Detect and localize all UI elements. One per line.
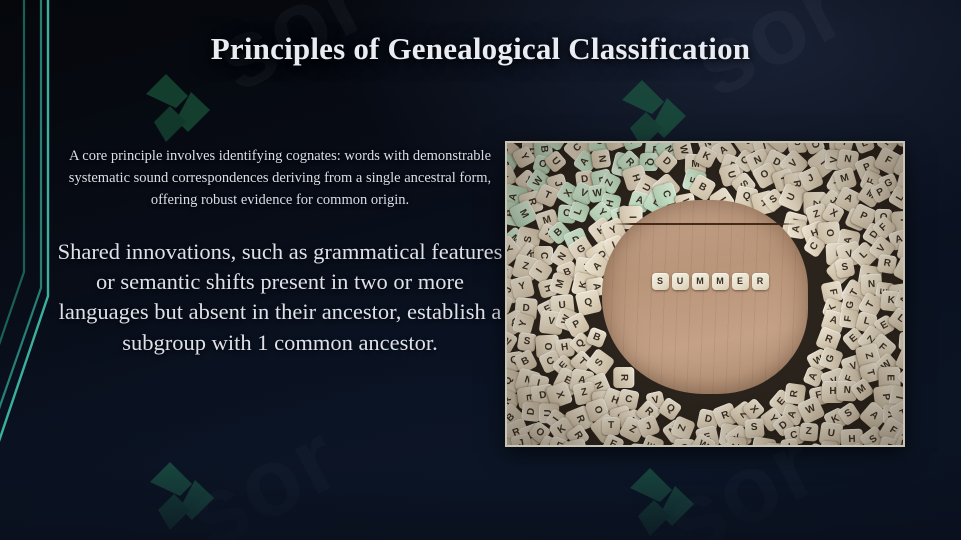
page-title: Principles of Genealogical Classificatio… — [0, 31, 961, 67]
letter-tile: K — [620, 143, 643, 151]
slide-canvas: sor sor sor sor Principles of Genealogic… — [0, 0, 961, 540]
letter-tile: S — [744, 418, 764, 438]
center-word-tile: S — [652, 273, 669, 290]
watermark-text: sor — [169, 402, 358, 540]
center-word-tile: U — [672, 273, 689, 290]
bottom-gradient-fade — [0, 466, 961, 540]
letter-tile: N — [591, 148, 612, 169]
watermark-logo-icon — [140, 452, 226, 540]
illustration-frame: GHBFCONKFNWNABIUSOUILNGJYOUANWRQDMKDCNDV… — [505, 141, 905, 447]
paragraph-cognates: A core principle involves identifying co… — [56, 145, 504, 211]
wood-surface — [602, 200, 808, 393]
watermark-logo-icon — [620, 458, 706, 540]
wood-plank-seam — [614, 223, 796, 225]
center-word-tile: E — [732, 273, 749, 290]
center-word-tile: M — [712, 273, 729, 290]
letter-tile: G — [897, 143, 903, 148]
letter-tile: T — [602, 417, 620, 435]
letter-tile: Z — [726, 436, 747, 445]
body-text-column: A core principle involves identifying co… — [56, 145, 504, 358]
center-word-tile: R — [752, 273, 769, 290]
center-word-tile: M — [692, 273, 709, 290]
letter-dice-photo: GHBFCONKFNWNABIUSOUILNGJYOUANWRQDMKDCNDV… — [507, 143, 903, 445]
center-word-tiles: SUMMER — [652, 273, 769, 290]
letter-tile: I — [780, 438, 799, 445]
letter-tile: Z — [799, 422, 818, 441]
letter-tile: S — [820, 440, 838, 445]
letter-tile: R — [613, 367, 634, 388]
letter-tile: S — [834, 258, 855, 279]
paragraph-shared-innovations: Shared innovations, such as grammatical … — [56, 237, 504, 358]
